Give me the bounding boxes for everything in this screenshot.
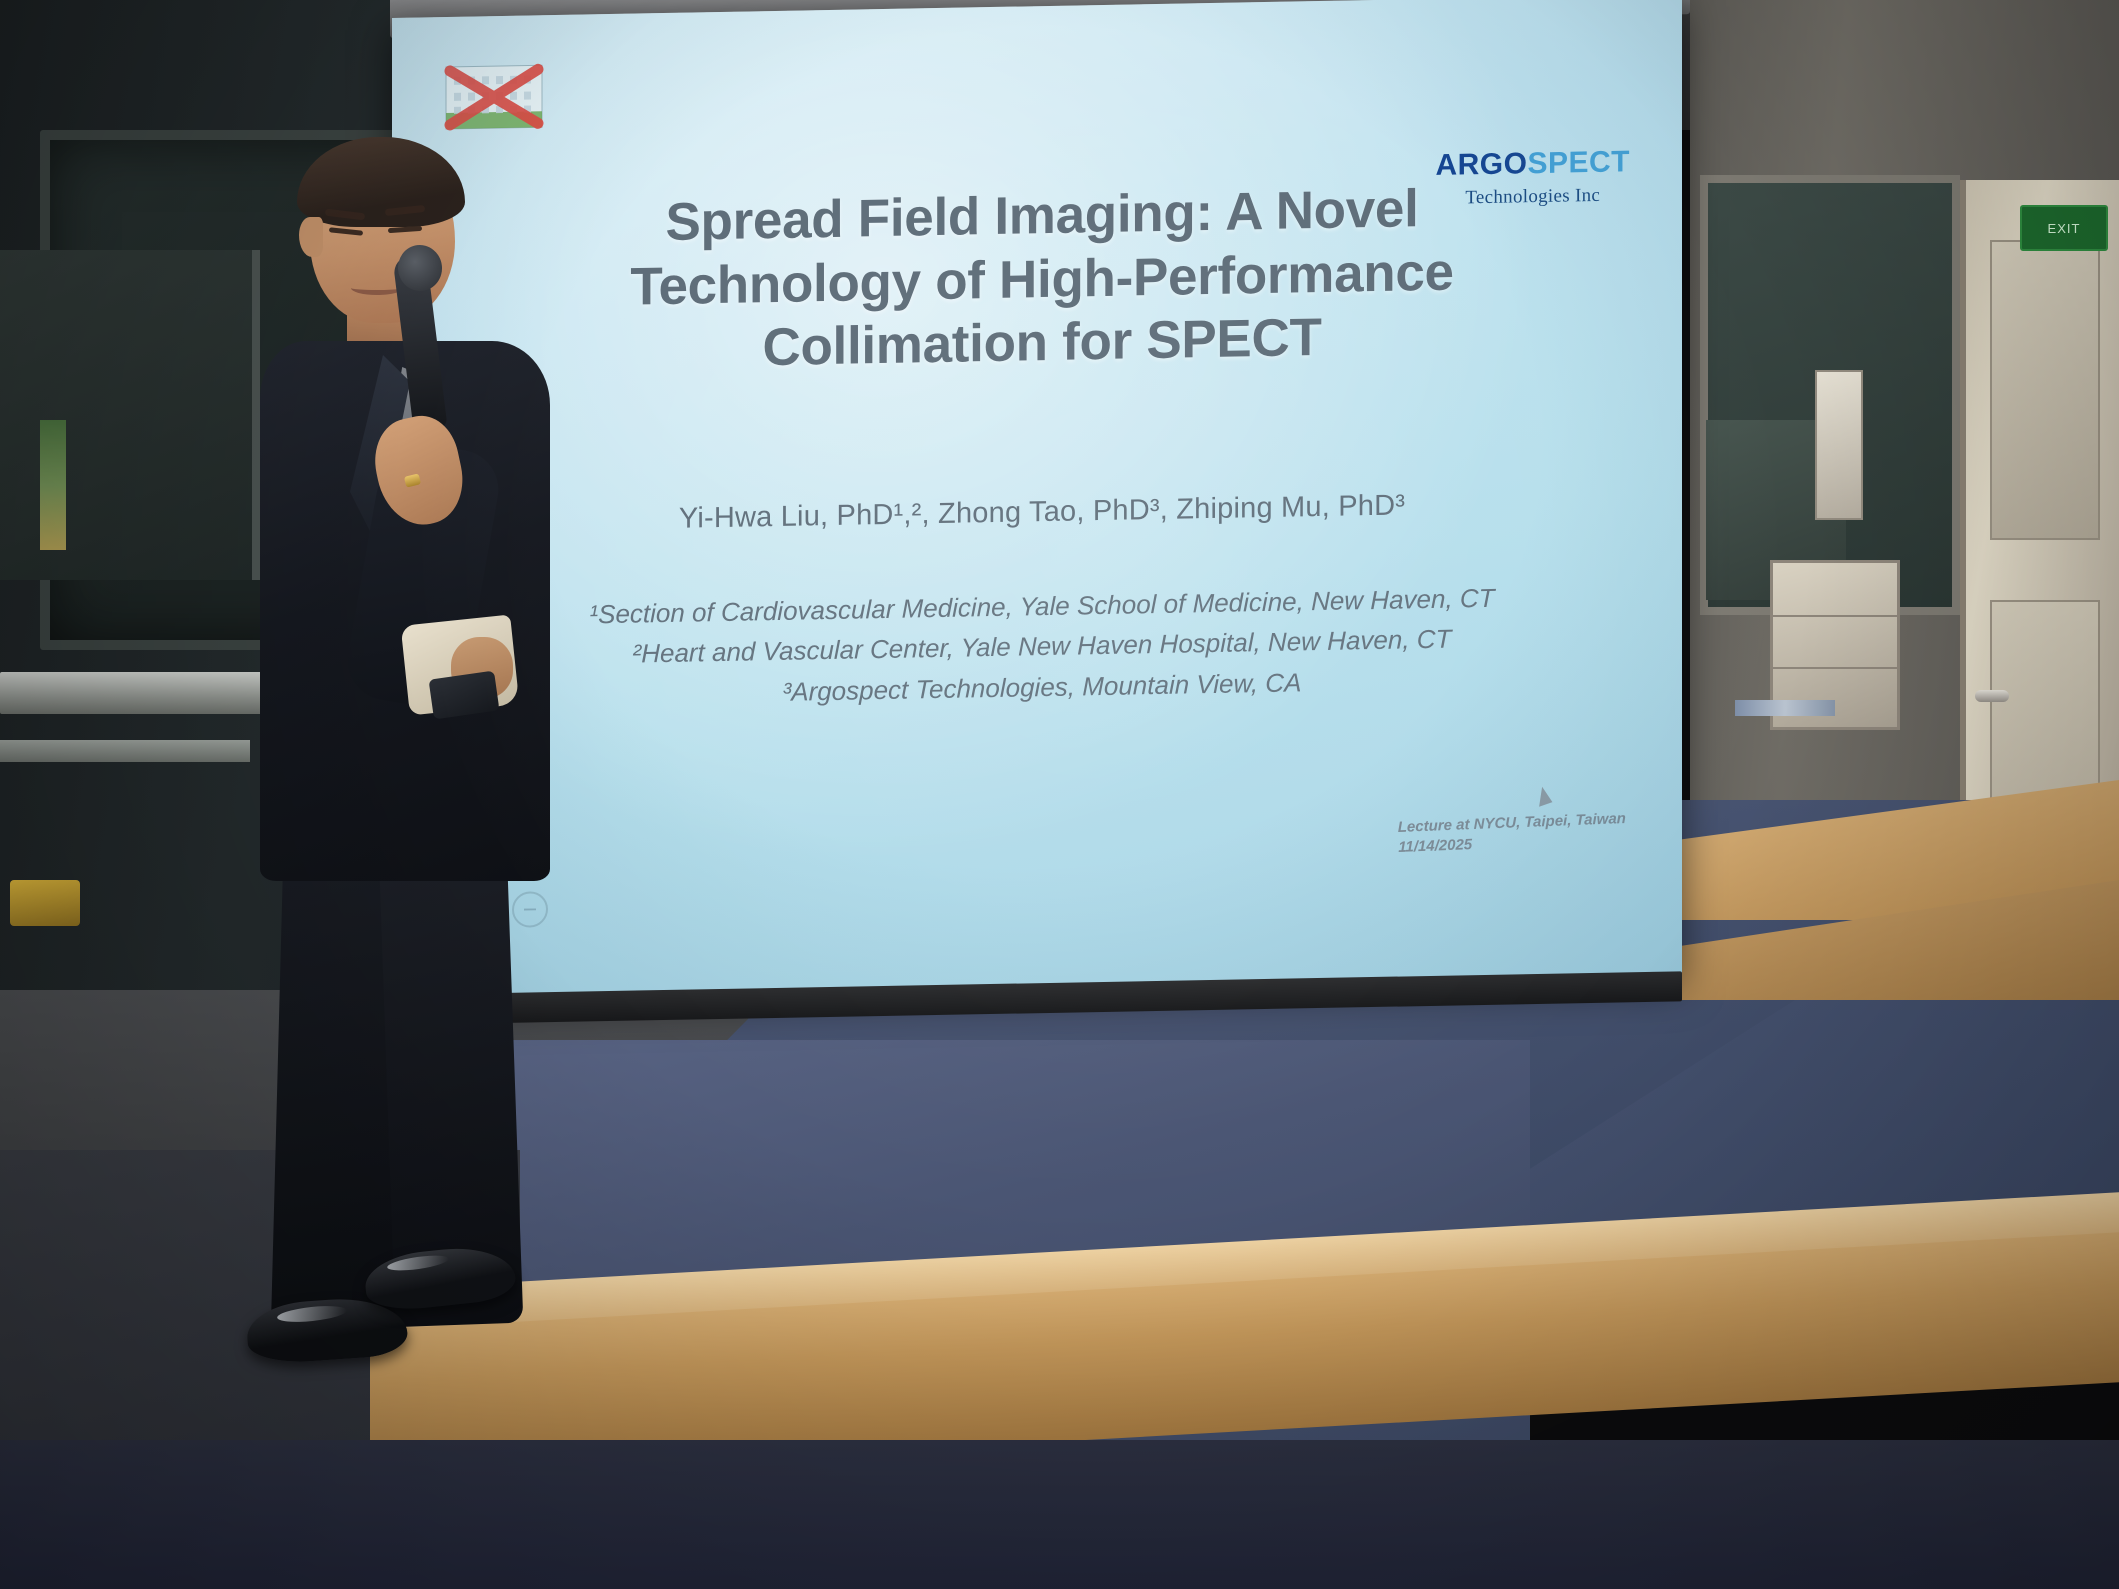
lecture-hall-scene: EXIT [0,0,2119,1589]
chalk-rail-lower [0,740,250,762]
mouse-cursor-icon [1534,785,1553,807]
door-panel [1990,240,2100,540]
exit-sign-label: EXIT [2048,221,2081,236]
wall-device [1815,370,1863,520]
chalkboard-frame [0,250,260,580]
yale-shield-icon [444,59,544,139]
speaker-ear [299,217,323,257]
chalk-rail [0,672,270,714]
cabinet-divider [1773,615,1897,617]
yellow-equipment-box [10,880,80,926]
front-floor [0,1440,2119,1589]
speaker-hair [297,137,465,227]
books-on-ledge [1735,700,1835,716]
green-board-edge [40,420,66,550]
exit-sign: EXIT [2020,205,2108,251]
door-handle[interactable] [1975,690,2009,702]
cabinet-divider [1773,667,1897,669]
speaker-person [255,145,675,1445]
slide-footer: Lecture at NYCU, Taipei, Taiwan 11/14/20… [1397,809,1626,858]
